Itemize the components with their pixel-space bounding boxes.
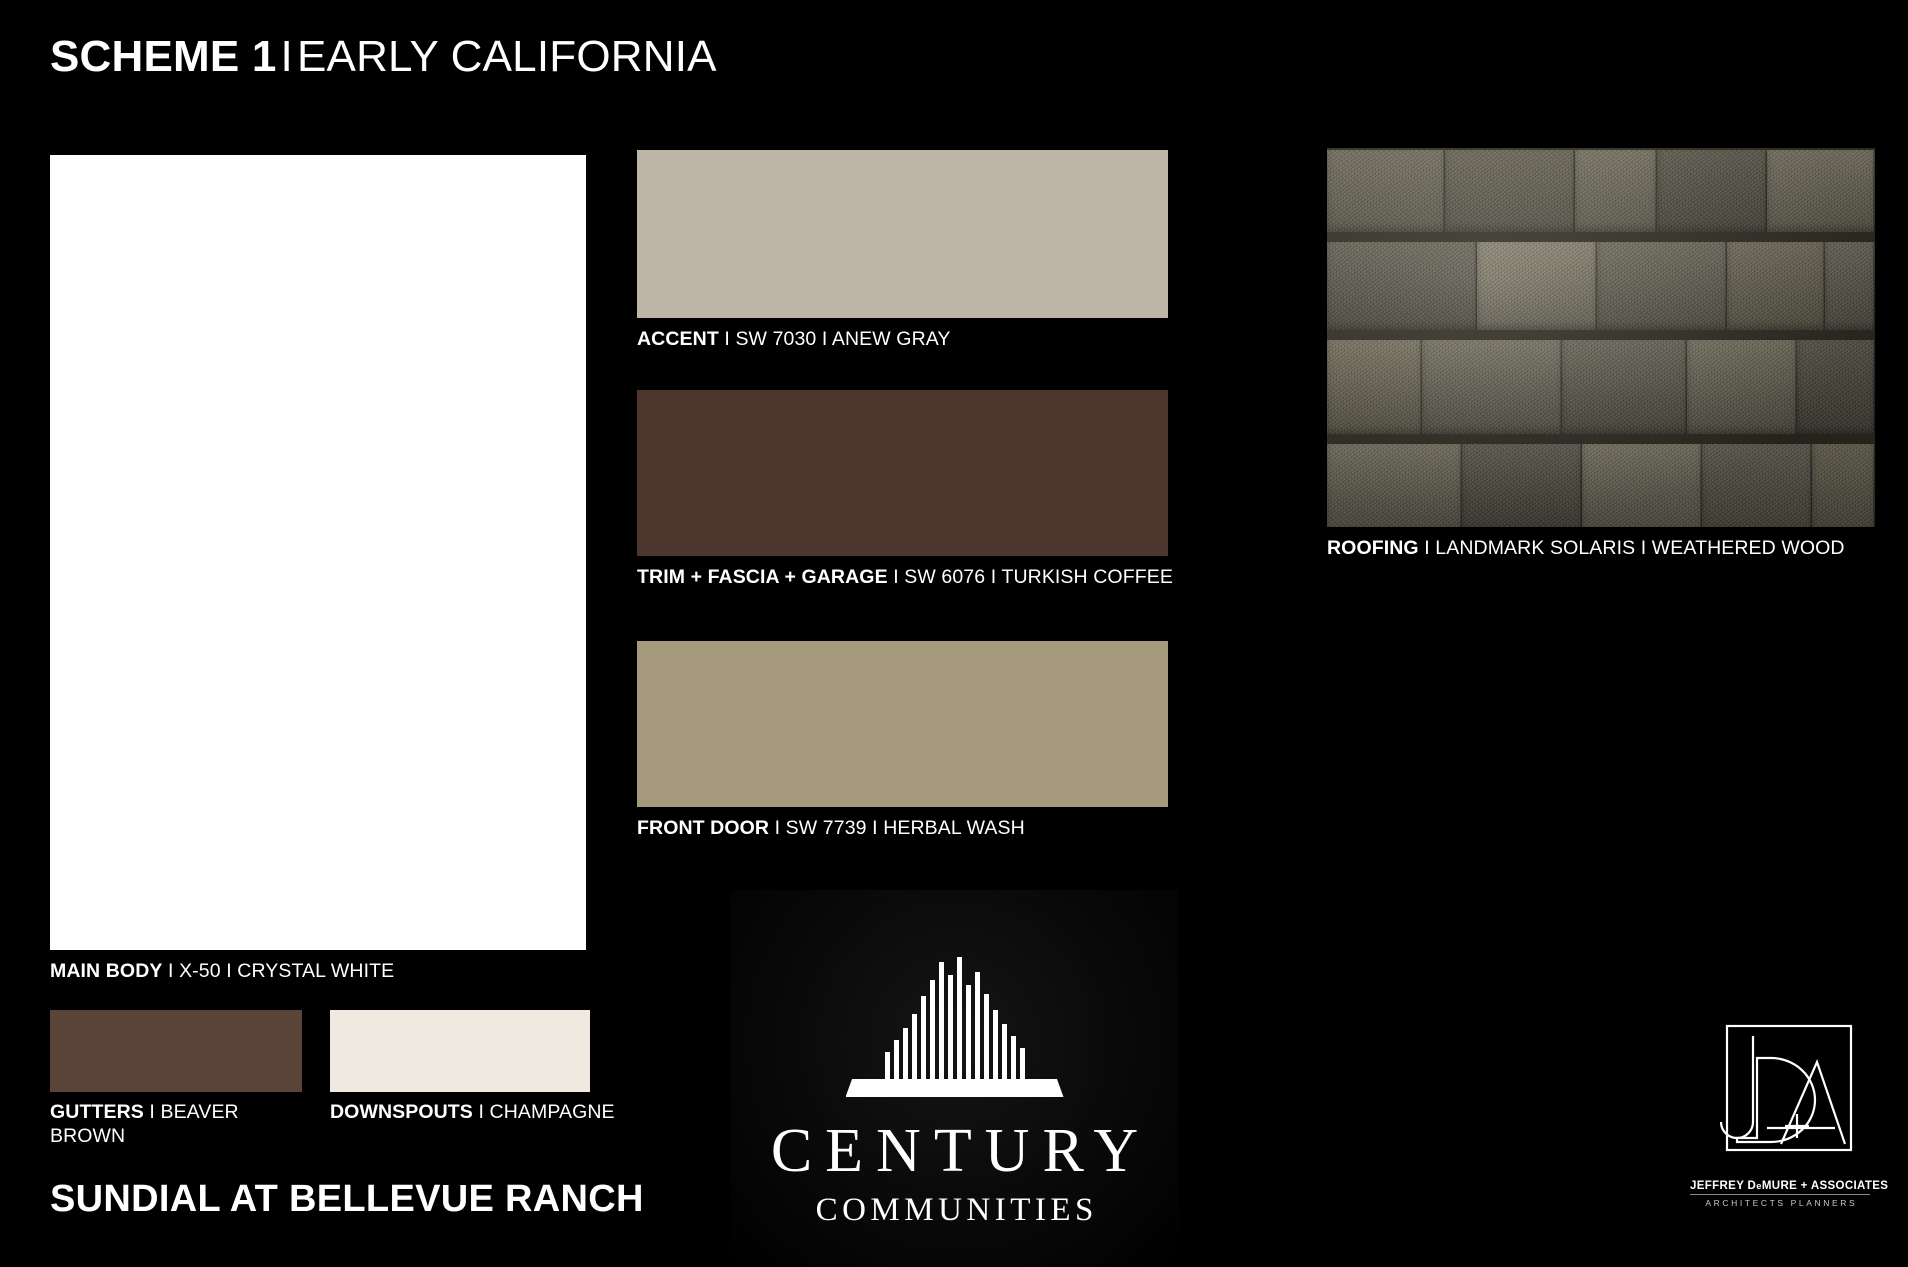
dome-spike (921, 996, 926, 1080)
label-role-trim: TRIM + FASCIA + GARAGE (637, 566, 888, 588)
caption-separator: I (872, 817, 878, 839)
color-scheme-board: SCHEME 1IEARLY CALIFORNIA MAIN BODY I X-… (0, 0, 1908, 1267)
shingle-tab (1727, 242, 1825, 330)
roofing-shingle-texture (1327, 148, 1875, 527)
caption-separator: I (991, 566, 997, 588)
swatch-color-main-body (50, 155, 586, 950)
label-code-trim: SW 6076 (904, 566, 985, 588)
label-code-roofing: LANDMARK SOLARIS (1435, 537, 1635, 559)
dome-base (846, 1079, 1064, 1097)
dome-spike (975, 972, 980, 1080)
label-role-roofing: ROOFING (1327, 537, 1419, 559)
dome-spike (939, 962, 944, 1080)
label-role-main-body: MAIN BODY (50, 960, 162, 982)
caption-separator: I (893, 566, 899, 588)
shingle-tab (1687, 340, 1797, 434)
swatch-caption-main-body: MAIN BODY I X-50 I CRYSTAL WHITE (50, 959, 586, 983)
dome-spike (948, 975, 953, 1080)
dome-spike (966, 985, 971, 1080)
dome-spike (903, 1028, 908, 1080)
jda-disciplines: ARCHITECTS PLANNERS (1690, 1198, 1870, 1208)
shingle-course (1327, 444, 1875, 527)
dome-spike (885, 1052, 890, 1080)
label-role-accent: ACCENT (637, 328, 719, 350)
label-code-front-door: SW 7739 (786, 817, 867, 839)
swatch-caption-front-door: FRONT DOOR I SW 7739 I HERBAL WASH (637, 816, 1173, 840)
shingle-tab (1477, 242, 1597, 330)
label-role-gutters: GUTTERS (50, 1101, 144, 1123)
swatch-color-accent (637, 150, 1168, 318)
shingle-tab (1767, 150, 1875, 232)
shingle-tab (1327, 340, 1422, 434)
dome-spike (1002, 1024, 1007, 1080)
label-color-downspouts: CHAMPAGNE (490, 1101, 615, 1123)
shingle-tab (1657, 150, 1767, 232)
swatch-front-door[interactable]: FRONT DOOR I SW 7739 I HERBAL WASH (637, 641, 1173, 840)
project-name: SUNDIAL AT BELLEVUE RANCH (50, 1178, 644, 1221)
caption-separator: I (1641, 537, 1647, 559)
label-color-roofing: WEATHERED WOOD (1652, 537, 1845, 559)
label-role-downspouts: DOWNSPOUTS (330, 1101, 473, 1123)
swatch-caption-downspouts: DOWNSPOUTS I CHAMPAGNE (330, 1100, 615, 1124)
shingle-course (1327, 150, 1875, 232)
swatch-downspouts[interactable]: DOWNSPOUTS I CHAMPAGNE (330, 1010, 615, 1124)
dome-spike (984, 994, 989, 1080)
label-color-front-door: HERBAL WASH (883, 817, 1025, 839)
shingle-tab (1422, 340, 1562, 434)
spacer (637, 607, 1173, 641)
dome-spike (1020, 1048, 1025, 1080)
jda-logo: JEFFREY DeMURE + ASSOCIATES ARCHITECTS P… (1690, 1022, 1870, 1208)
jda-firm-part1: JEFFREY D (1690, 1180, 1756, 1192)
label-code-accent: SW 7030 (735, 328, 816, 350)
swatch-color-downspouts (330, 1010, 590, 1092)
caption-separator: I (822, 328, 828, 350)
swatch-trim[interactable]: TRIM + FASCIA + GARAGE I SW 6076 I TURKI… (637, 390, 1173, 589)
swatch-caption-roofing: ROOFING I LANDMARK SOLARIS I WEATHERED W… (1327, 536, 1875, 560)
shingle-tab (1597, 242, 1727, 330)
swatch-main-body[interactable]: MAIN BODY I X-50 I CRYSTAL WHITE (50, 155, 586, 983)
shingle-tab (1327, 242, 1477, 330)
shingle-tab (1797, 340, 1875, 434)
caption-separator: I (168, 960, 174, 982)
dome-spike (993, 1010, 998, 1080)
swatch-roofing[interactable]: ROOFING I LANDMARK SOLARIS I WEATHERED W… (1327, 148, 1875, 560)
swatch-color-gutters (50, 1010, 302, 1092)
scheme-number: SCHEME 1 (50, 32, 277, 81)
jda-firm-name: JEFFREY DeMURE + ASSOCIATES (1690, 1180, 1870, 1195)
page-title: SCHEME 1IEARLY CALIFORNIA (50, 32, 717, 82)
caption-separator: I (724, 328, 730, 350)
caption-separator: I (775, 817, 781, 839)
scheme-name: EARLY CALIFORNIA (297, 32, 717, 81)
dome-spike (912, 1014, 917, 1080)
shingle-tab (1462, 444, 1582, 527)
title-separator: I (277, 32, 297, 81)
shingle-course (1327, 242, 1875, 330)
caption-separator: I (478, 1101, 484, 1123)
caption-separator: I (149, 1101, 155, 1123)
label-role-front-door: FRONT DOOR (637, 817, 769, 839)
shingle-tab (1582, 444, 1702, 527)
shingle-tab (1702, 444, 1812, 527)
shingle-tab (1575, 150, 1657, 232)
century-subtitle: COMMUNITIES (811, 1194, 1098, 1227)
swatch-caption-trim: TRIM + FASCIA + GARAGE I SW 6076 I TURKI… (637, 565, 1173, 589)
label-color-trim: TURKISH COFFEE (1001, 566, 1173, 588)
shingle-tab (1562, 340, 1687, 434)
century-communities-logo: CENTURY COMMUNITIES (731, 890, 1178, 1267)
shingle-course (1327, 340, 1875, 434)
shingle-tab (1812, 444, 1875, 527)
shingle-tab (1327, 150, 1445, 232)
dome-spike (894, 1040, 899, 1080)
jda-firm-part2: MURE + ASSOCIATES (1762, 1180, 1888, 1192)
dome-spike (1011, 1036, 1016, 1080)
swatch-color-front-door (637, 641, 1168, 807)
label-color-main-body: CRYSTAL WHITE (237, 960, 394, 982)
swatch-column-middle: ACCENT I SW 7030 I ANEW GRAY TRIM + FASC… (637, 150, 1173, 858)
swatch-accent[interactable]: ACCENT I SW 7030 I ANEW GRAY (637, 150, 1173, 351)
spacer (637, 369, 1173, 390)
swatch-caption-accent: ACCENT I SW 7030 I ANEW GRAY (637, 327, 1173, 351)
dome-spire-icon (840, 957, 1070, 1102)
caption-separator: I (226, 960, 232, 982)
shingle-tab (1825, 242, 1875, 330)
swatch-gutters[interactable]: GUTTERS I BEAVER BROWN (50, 1010, 302, 1148)
jda-monogram-icon (1705, 1022, 1855, 1172)
caption-separator: I (1424, 537, 1430, 559)
century-wordmark: CENTURY (758, 1120, 1151, 1182)
dome-spike (930, 980, 935, 1080)
dome-spike (957, 957, 962, 1080)
swatch-color-trim (637, 390, 1168, 556)
shingle-tab (1327, 444, 1462, 527)
shingle-tab (1445, 150, 1575, 232)
label-code-main-body: X-50 (179, 960, 221, 982)
swatch-caption-gutters: GUTTERS I BEAVER BROWN (50, 1100, 260, 1148)
label-color-accent: ANEW GRAY (832, 328, 951, 350)
